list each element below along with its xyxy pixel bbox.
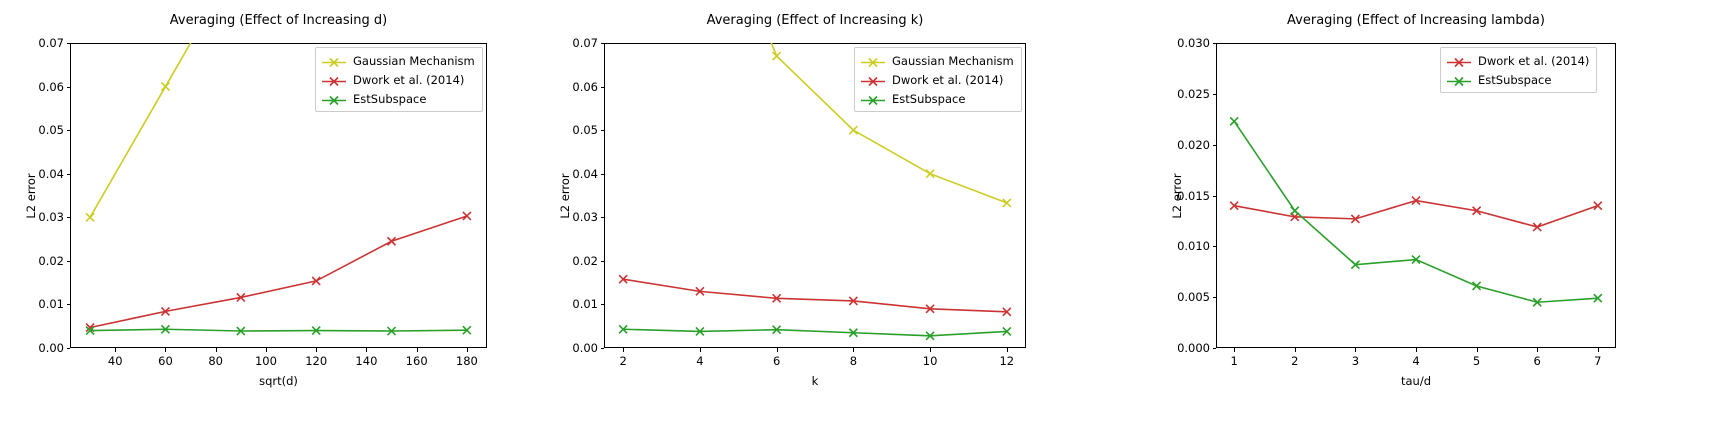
series-line bbox=[1234, 201, 1598, 227]
chart-panel-lambda: Averaging (Effect of Increasing lambda)0… bbox=[1140, 0, 1710, 422]
legend-item: Dwork et al. (2014) bbox=[860, 72, 1014, 87]
legend-swatch-icon bbox=[321, 92, 347, 105]
data-point-marker bbox=[773, 52, 781, 60]
legend-swatch-icon bbox=[860, 54, 886, 67]
legend-label: Dwork et al. (2014) bbox=[886, 73, 1003, 87]
legend-swatch-icon bbox=[321, 54, 347, 67]
legend-label: EstSubspace bbox=[886, 92, 965, 106]
data-point-marker bbox=[849, 126, 857, 134]
legend-label: Dwork et al. (2014) bbox=[347, 73, 464, 87]
chart-panel-d: Averaging (Effect of Increasing d)0.000.… bbox=[0, 0, 540, 422]
series-line bbox=[1234, 121, 1598, 302]
data-point-marker bbox=[388, 237, 396, 245]
data-point-marker bbox=[86, 213, 94, 221]
legend-item: EstSubspace bbox=[321, 91, 475, 106]
series-layer bbox=[1140, 0, 1710, 422]
legend-swatch-icon bbox=[860, 73, 886, 86]
data-point-marker bbox=[161, 83, 169, 91]
series-line bbox=[90, 216, 467, 328]
series-line bbox=[90, 329, 467, 331]
legend-item: Gaussian Mechanism bbox=[321, 53, 475, 68]
legend-label: EstSubspace bbox=[347, 92, 426, 106]
legend-swatch-icon bbox=[1446, 73, 1472, 86]
series-line bbox=[623, 329, 1007, 336]
chart-panel-k: Averaging (Effect of Increasing k)0.000.… bbox=[540, 0, 1140, 422]
chart-legend: Gaussian MechanismDwork et al. (2014)Est… bbox=[315, 47, 483, 112]
chart-legend: Gaussian MechanismDwork et al. (2014)Est… bbox=[854, 47, 1022, 112]
data-point-marker bbox=[1230, 117, 1238, 125]
legend-label: Gaussian Mechanism bbox=[347, 54, 475, 68]
data-point-marker bbox=[1594, 202, 1602, 210]
legend-item: EstSubspace bbox=[860, 91, 1014, 106]
legend-label: Gaussian Mechanism bbox=[886, 54, 1014, 68]
legend-label: Dwork et al. (2014) bbox=[1472, 54, 1589, 68]
legend-item: Dwork et al. (2014) bbox=[1446, 53, 1589, 68]
legend-item: EstSubspace bbox=[1446, 72, 1589, 87]
series-layer bbox=[540, 0, 1140, 422]
legend-item: Dwork et al. (2014) bbox=[321, 72, 475, 87]
legend-item: Gaussian Mechanism bbox=[860, 53, 1014, 68]
legend-label: EstSubspace bbox=[1472, 73, 1551, 87]
series-line bbox=[623, 279, 1007, 312]
legend-swatch-icon bbox=[321, 73, 347, 86]
data-point-marker bbox=[463, 212, 471, 220]
legend-swatch-icon bbox=[1446, 54, 1472, 67]
data-point-marker bbox=[1003, 199, 1011, 207]
data-point-marker bbox=[926, 170, 934, 178]
data-point-marker bbox=[1291, 207, 1299, 215]
figure-three-line-charts: Averaging (Effect of Increasing d)0.000.… bbox=[0, 0, 1710, 422]
legend-swatch-icon bbox=[860, 92, 886, 105]
chart-legend: Dwork et al. (2014)EstSubspace bbox=[1440, 47, 1597, 93]
